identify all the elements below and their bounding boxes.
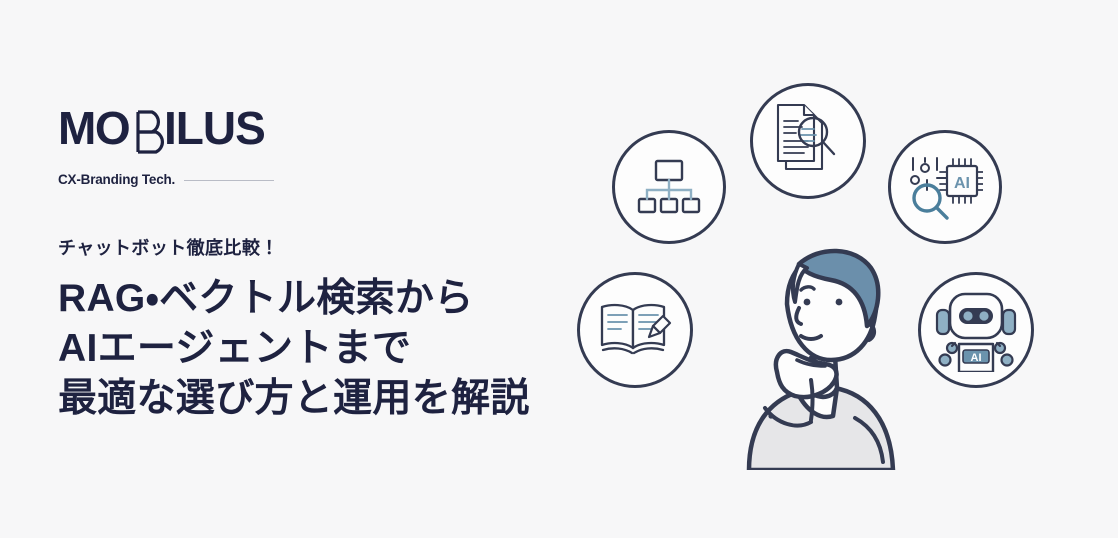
ai-chip-search-icon: AI: [907, 152, 983, 222]
headline-line-2: AIエージェントまで: [58, 324, 530, 374]
document-search-icon: [772, 103, 844, 179]
circle-ai-chip: AI: [888, 130, 1002, 244]
hero-kicker: チャットボット徹底比較！: [58, 234, 279, 260]
hero-banner: MO ILUS CX-Branding Tech. チャットボット徹底比較！: [0, 0, 1118, 538]
brand-tagline: CX-Branding Tech.: [58, 172, 175, 187]
ai-robot-icon: AI: [935, 288, 1017, 372]
brand-wordmark: MO ILUS: [58, 104, 268, 156]
thinking-person-illustration: [715, 240, 915, 470]
circle-book: [577, 272, 693, 388]
hierarchy-chart-icon: [635, 157, 703, 217]
brand-tagline-row: CX-Branding Tech.: [58, 172, 274, 187]
headline-line-1: RAG・ベクトル検索から: [58, 274, 530, 324]
hero-text-panel: MO ILUS CX-Branding Tech. チャットボット徹底比較！: [58, 0, 558, 538]
circle-document-search: [750, 83, 866, 199]
hero-illustration: AI: [560, 40, 1118, 500]
brand-logo: MO ILUS CX-Branding Tech.: [58, 104, 318, 196]
book-pencil-icon: [597, 300, 673, 360]
headline-line-3: 最適な選び方と運用を解説: [58, 374, 530, 424]
svg-text:ILUS: ILUS: [164, 104, 265, 154]
robot-chest-label: AI: [971, 352, 982, 364]
circle-hierarchy: [612, 130, 726, 244]
tagline-divider: [184, 180, 274, 181]
svg-text:MO: MO: [58, 104, 129, 154]
circle-robot: AI: [918, 272, 1034, 388]
ai-chip-label: AI: [954, 175, 970, 192]
hero-headline: RAG・ベクトル検索から AIエージェントまで 最適な選び方と運用を解説: [58, 274, 530, 424]
